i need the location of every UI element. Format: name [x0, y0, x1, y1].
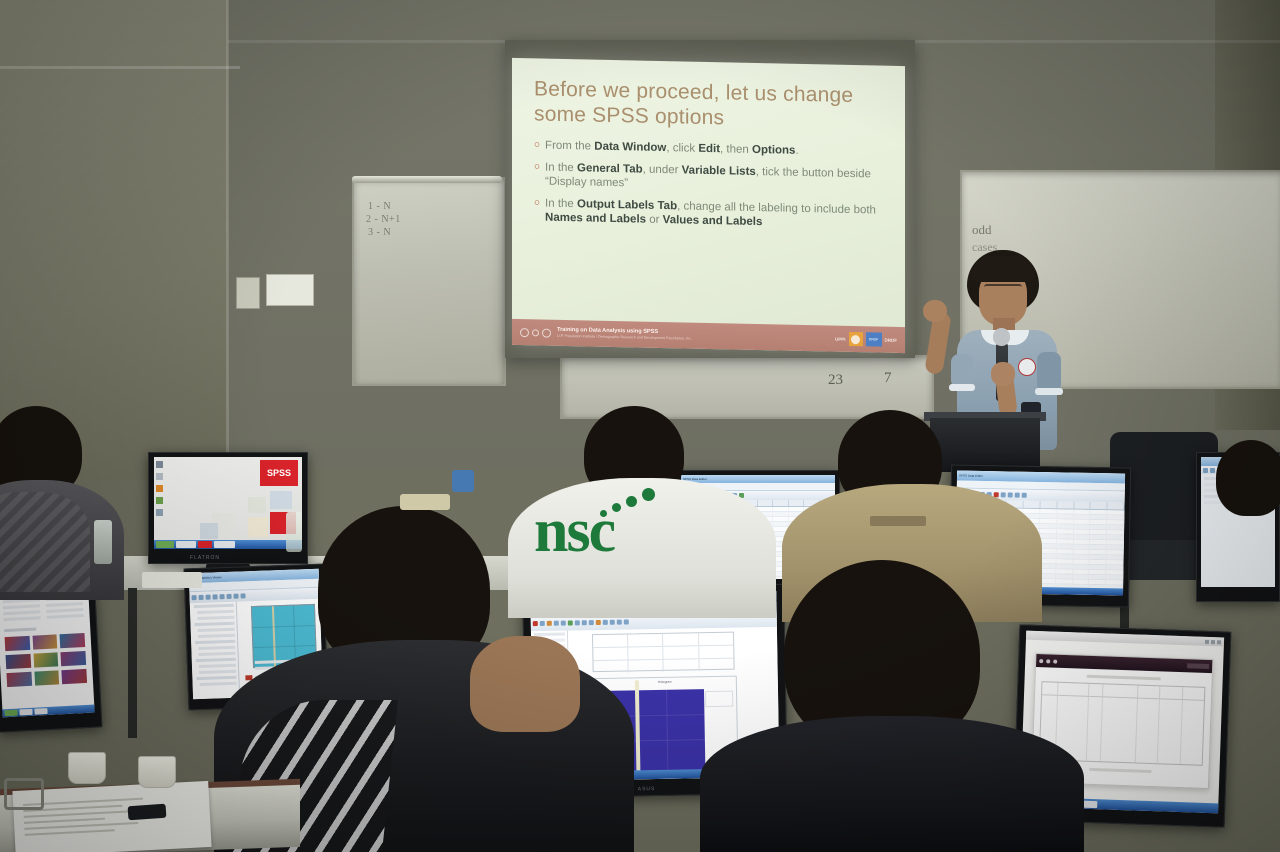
monitor-brand: FLATRON: [190, 555, 220, 561]
slide-bullet: ○In the General Tab, under Variable List…: [534, 160, 889, 196]
nsc-logo-dot: [642, 488, 655, 501]
footer-logo-left-text: UPPI: [835, 336, 846, 341]
paper-text-lines: [23, 796, 175, 844]
presenter-fringe: [971, 256, 1035, 282]
desktop-icons: [156, 461, 164, 517]
nsc-logo-dot: [600, 510, 607, 517]
spss-logo: SPSS: [260, 460, 298, 486]
presenter-mic-hand: [991, 362, 1015, 386]
footer-logo-right-text: DRDF: [885, 337, 898, 342]
binder-clip: [4, 778, 44, 810]
whiteboard-number-23: 23: [828, 372, 843, 389]
whiteboard-left-note-2: 3 - N: [368, 226, 391, 239]
office-chair-base: [1122, 540, 1202, 580]
chart-title: Histogram: [594, 679, 736, 685]
nsc-logo-dot: [612, 503, 621, 512]
slide-bullet-list: ○From the Data Window, click Edit, then …: [534, 138, 889, 232]
slide-title: Before we proceed, let us change some SP…: [534, 76, 889, 133]
monitor-brand: ASUS: [638, 786, 656, 792]
presenter-right-sleeve: [1037, 352, 1061, 392]
taskbar[interactable]: [154, 540, 302, 549]
ceiling-edge-left: [0, 66, 240, 69]
wall-switch-plate: [236, 277, 260, 309]
paper-cup[interactable]: [138, 756, 176, 788]
projected-slide: Before we proceed, let us change some SP…: [512, 58, 905, 353]
whiteboard-left-note-1: 2 - N+1: [366, 213, 401, 226]
thumbnail-row[interactable]: [6, 651, 87, 669]
slide-bullet: ○From the Data Window, click Edit, then …: [534, 138, 889, 160]
bullet-marker-icon: ○: [534, 138, 540, 153]
presenter-glasses: [984, 284, 1022, 295]
monitor-spss-wallpaper: SPSS FLATRON: [148, 452, 308, 564]
whiteboard-left-rail: [352, 176, 502, 183]
slide-bullet-text: In the General Tab, under Variable Lists…: [545, 160, 889, 196]
slide-bullet-text: In the Output Labels Tab, change all the…: [545, 196, 889, 232]
chart-legend: [705, 691, 733, 707]
desk-clutter: [400, 494, 450, 510]
paper-cup[interactable]: [68, 752, 106, 784]
wall-corner: [226, 0, 229, 470]
thumbnail-row[interactable]: [5, 633, 86, 651]
slide-bullet-text: From the Data Window, click Edit, then O…: [545, 139, 799, 159]
statistics-table: [592, 632, 735, 672]
presenter-right-cuff: [1035, 388, 1063, 395]
microphone-head: [993, 328, 1010, 346]
footer-rings-icon: [520, 328, 551, 338]
nsc-logo-dot: [626, 496, 637, 507]
bullet-marker-icon: ○: [534, 196, 540, 225]
bullet-marker-icon: ○: [534, 160, 540, 189]
student-hand-raised: [470, 636, 580, 732]
thumbnail-row[interactable]: [6, 669, 87, 687]
whiteboard-right-note-0: odd: [972, 222, 992, 238]
presenter-left-cuff: [949, 384, 975, 391]
table-leg-1: [128, 588, 137, 738]
keyboard[interactable]: [142, 572, 202, 588]
whiteboard-left-note-0: 1 - N: [368, 200, 391, 213]
water-bottle[interactable]: [94, 520, 112, 564]
footer-logo-orange-icon: [849, 332, 863, 346]
student-far-right-head: [1216, 440, 1280, 516]
podium: [930, 418, 1040, 472]
mobile-phone[interactable]: [128, 804, 167, 821]
presenter-badge: [1018, 358, 1036, 376]
water-bottle[interactable]: [286, 512, 302, 552]
presenter-raised-hand: [923, 300, 947, 322]
slide-bullet: ○In the Output Labels Tab, change all th…: [534, 196, 889, 232]
wall-paper-sign: [266, 274, 314, 306]
classroom-photo: 1 - N 2 - N+1 3 - N odd cases 23 7 Befor…: [0, 0, 1280, 852]
window-titlebar[interactable]: SPSS Data Editor: [681, 475, 835, 483]
student-khaki-collar-seam: [870, 516, 926, 526]
window-title: SPSS Data Editor: [959, 473, 983, 477]
student-left-pattern: [0, 492, 90, 592]
blue-box-item: [452, 470, 474, 492]
student-foreground-right-body: [700, 716, 1084, 852]
presenter-left-sleeve: [951, 354, 973, 388]
footer-logo-blue-icon: DRDF: [866, 332, 882, 346]
whiteboard-number-7: 7: [884, 370, 892, 387]
outline-pane[interactable]: [190, 602, 240, 700]
